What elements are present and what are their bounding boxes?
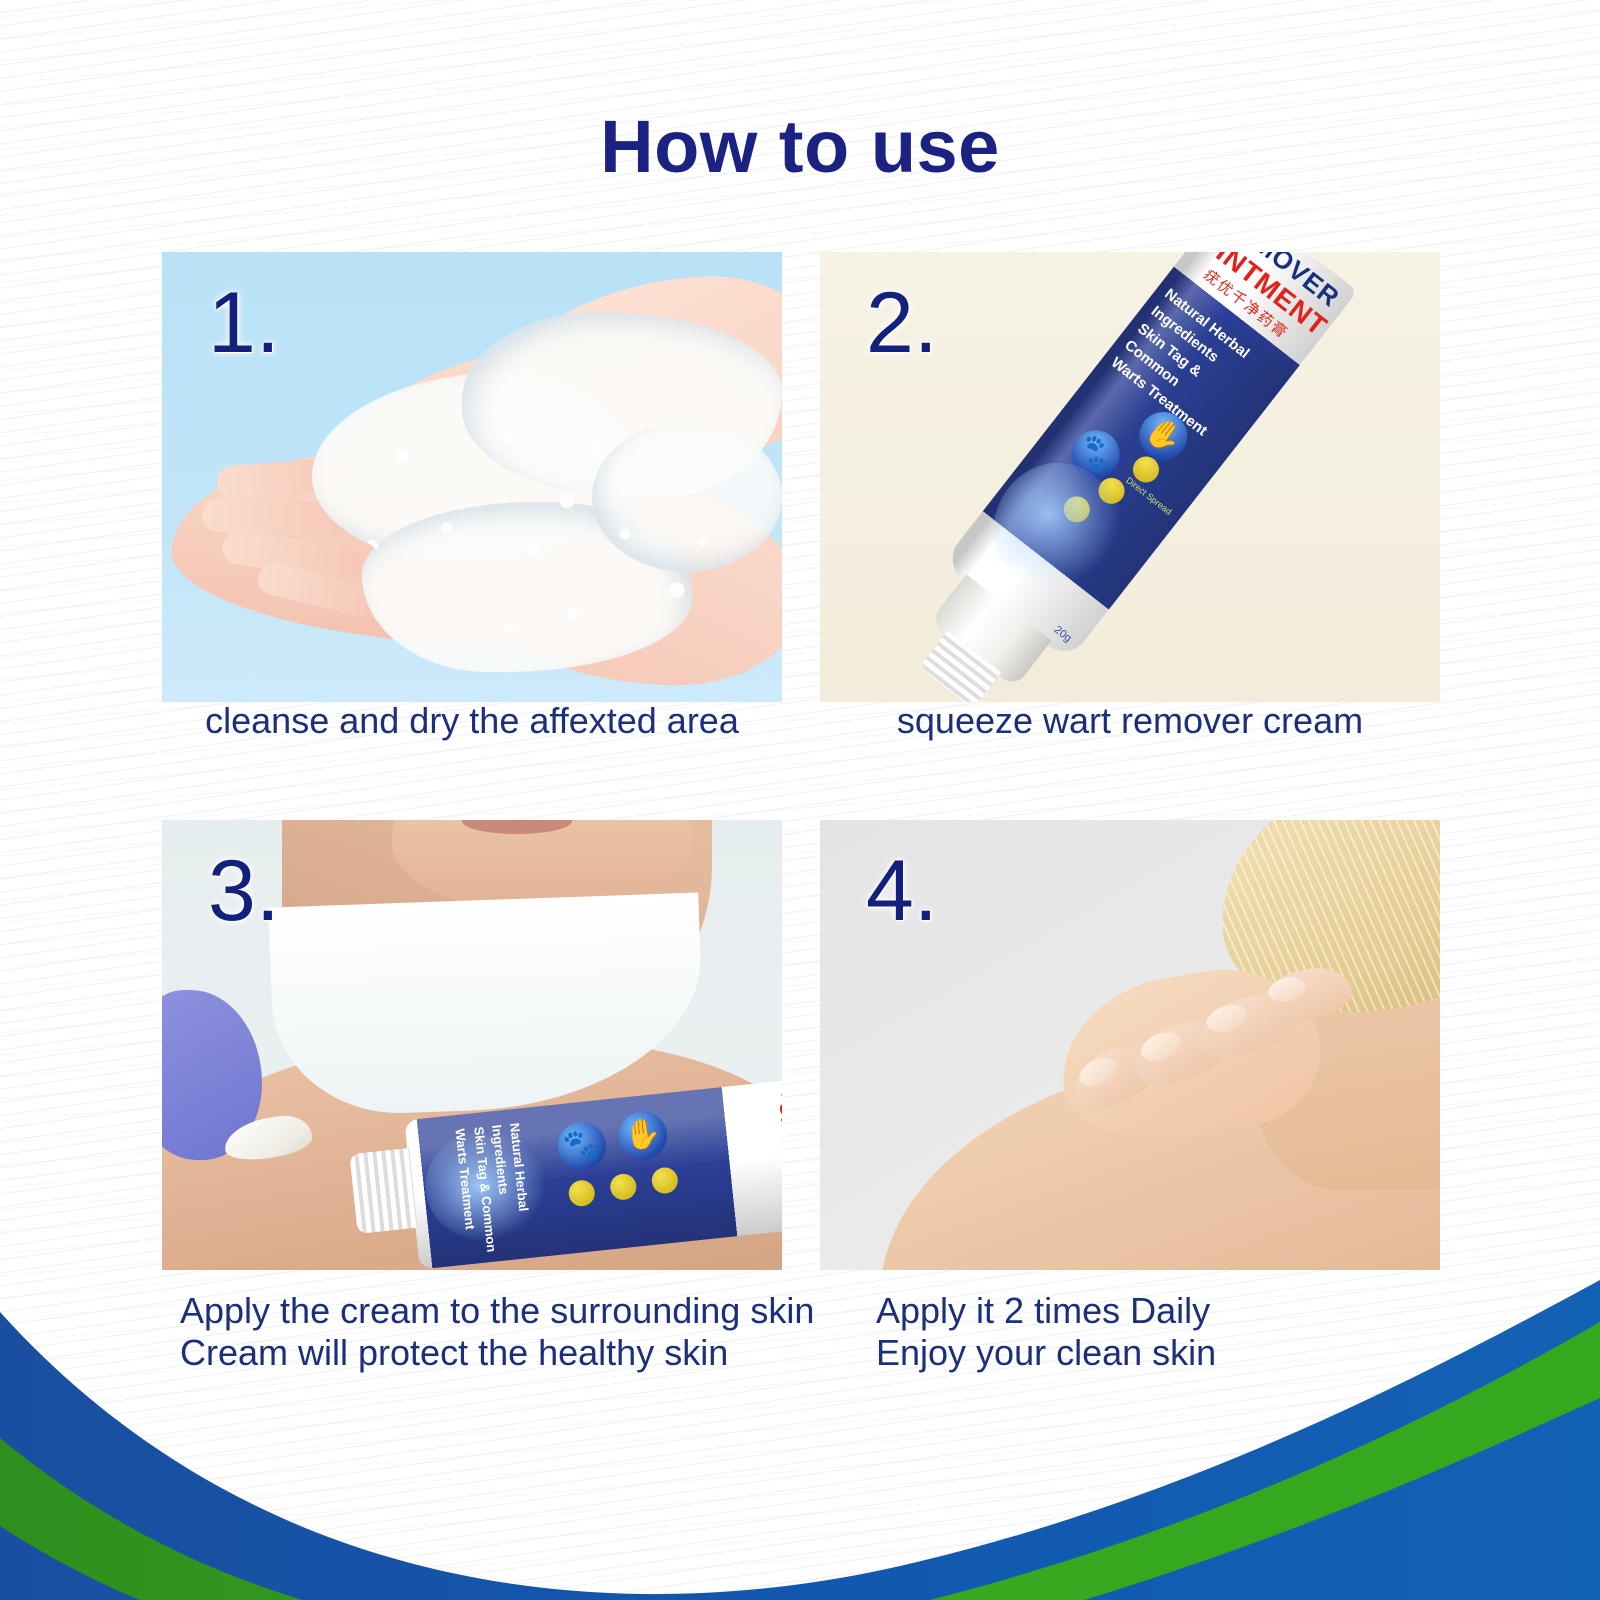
step-caption-3: Apply the cream to the surrounding skin …	[180, 1290, 820, 1375]
tube-nozzle	[349, 1148, 417, 1234]
step-caption-2: squeeze wart remover cream	[820, 700, 1440, 742]
hand-icon: ✋	[617, 1109, 670, 1162]
tube-net-weight: 20g	[1052, 624, 1074, 645]
page-title: How to use	[0, 104, 1600, 189]
feature-badge-2	[609, 1173, 638, 1202]
ointment-tube: REMOVER OINTMENT 疣优千净药膏 Natural Herbal I…	[942, 252, 1357, 661]
feature-badge-label-1: Direct Spread	[1124, 476, 1179, 522]
feature-badge-3	[651, 1166, 680, 1195]
tube-label-lines: Natural Herbal Ingredients Skin Tag & Co…	[451, 1122, 537, 1259]
step-panel-3: 🐾 ✋ Natural Herbal Ingredients Skin Tag …	[162, 820, 782, 1270]
step-number-2: 2.	[866, 280, 938, 366]
step-number-3: 3.	[208, 848, 280, 934]
step-panel-4: 4.	[820, 820, 1440, 1270]
step-panel-2: REMOVER OINTMENT 疣优千净药膏 Natural Herbal I…	[820, 252, 1440, 702]
tube-icon-cluster: 🐾 ✋	[555, 1107, 696, 1230]
foot-icon: 🐾	[555, 1120, 608, 1173]
step-number-1: 1.	[208, 280, 280, 366]
tube-body: REMOVER OINTMENT 疣优千净药膏 Natural Herbal I…	[942, 252, 1357, 661]
step-caption-1: cleanse and dry the affexted area	[162, 700, 782, 742]
soap-bubbles	[482, 502, 742, 662]
step-panel-1: 1.	[162, 252, 782, 702]
tube-ointment-text: OINTMENT	[772, 1092, 782, 1214]
feature-badge-1	[567, 1179, 596, 1208]
step-number-4: 4.	[866, 848, 938, 934]
step-caption-4: Apply it 2 times Daily Enjoy your clean …	[876, 1290, 1496, 1375]
